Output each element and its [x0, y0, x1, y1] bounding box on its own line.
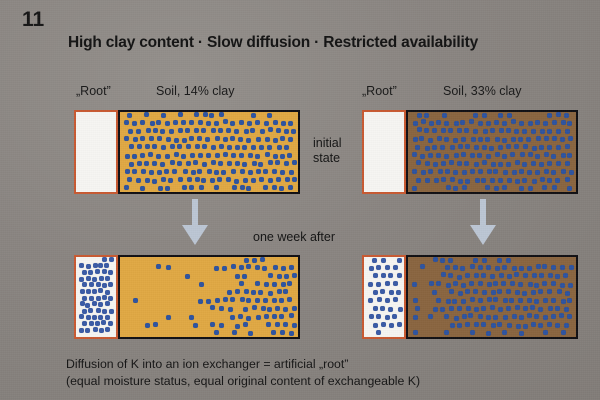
root-box-bottom-right	[362, 255, 406, 339]
label-soil-right: Soil, 33% clay	[443, 84, 522, 98]
soil-box-top-left	[118, 110, 300, 194]
potassium-dots	[120, 257, 298, 337]
label-one-week-after: one week after	[253, 230, 335, 245]
label-initial-state: initial state	[313, 136, 342, 166]
root-box-top-right	[362, 110, 406, 194]
root-box-bottom-left	[74, 255, 118, 339]
label-soil-left: Soil, 14% clay	[156, 84, 235, 98]
potassium-dots	[408, 112, 576, 192]
potassium-dots	[364, 257, 404, 337]
film-grain-overlay	[0, 0, 600, 400]
label-root-right: „Root”	[362, 84, 397, 98]
soil-box-bottom-right	[406, 255, 578, 339]
down-arrow-icon-right	[470, 199, 496, 245]
slide-number: 11	[22, 8, 44, 32]
soil-box-bottom-left	[118, 255, 300, 339]
soil-box-top-right	[406, 110, 578, 194]
potassium-dots	[120, 112, 298, 192]
page-title: High clay content · Slow diffusion · Res…	[68, 34, 478, 52]
label-root-left: „Root”	[76, 84, 111, 98]
potassium-dots	[76, 257, 116, 337]
potassium-dots	[364, 112, 404, 192]
potassium-dots	[76, 112, 116, 192]
root-box-top-left	[74, 110, 118, 194]
down-arrow-icon-left	[182, 199, 208, 245]
potassium-dots	[408, 257, 576, 337]
slide-canvas: 11 High clay content · Slow diffusion · …	[0, 0, 600, 400]
figure-caption: Diffusion of K into an ion exchanger = a…	[66, 356, 420, 389]
